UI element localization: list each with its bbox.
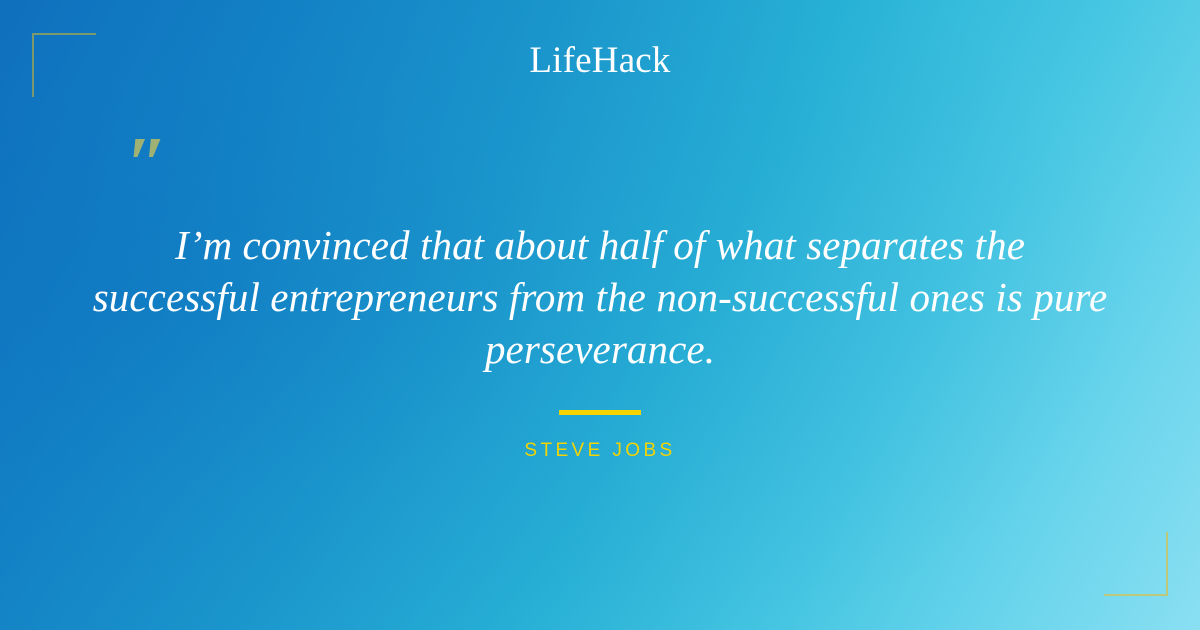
- quotation-mark-icon: ″: [126, 126, 166, 202]
- quote-line: successful entrepreneurs from the non-su…: [86, 271, 1114, 323]
- quote-line: I’m convinced that about half of what se…: [86, 219, 1114, 271]
- divider: [559, 410, 641, 415]
- quote-card: LifeHack ″ I’m convinced that about half…: [0, 0, 1200, 630]
- quote-content: ″ I’m convinced that about half of what …: [0, 0, 1200, 630]
- quote-line: perseverance.: [86, 323, 1114, 375]
- brand-logo: LifeHack: [0, 38, 1200, 83]
- quote-text: I’m convinced that about half of what se…: [86, 219, 1114, 375]
- quote-author: STEVE JOBS: [0, 439, 1200, 463]
